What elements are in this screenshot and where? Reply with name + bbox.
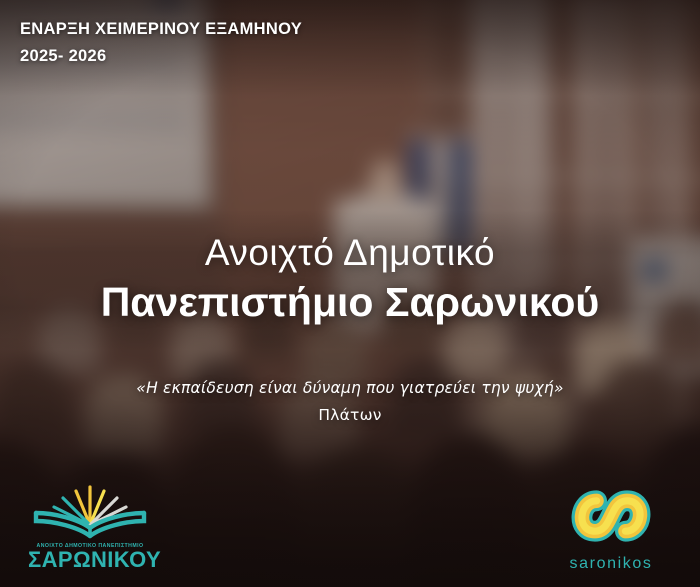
title-line-1: Ανοιχτό Δημοτικό [0, 232, 700, 275]
quote-block: «Η εκπαίδευση είναι δύναμη που γιατρεύει… [0, 379, 700, 424]
saronikos-infinity-s-icon [563, 481, 659, 551]
header-line-1: ΕΝΑΡΞΗ ΧΕΙΜΕΡΙΝΟΥ ΕΞΑΜΗΝΟΥ [20, 16, 302, 43]
poster-content: ΕΝΑΡΞΗ ΧΕΙΜΕΡΙΝΟΥ ΕΞΑΜΗΝΟΥ 2025- 2026 Αν… [0, 0, 700, 587]
event-header: ΕΝΑΡΞΗ ΧΕΙΜΕΡΙΝΟΥ ΕΞΑΜΗΝΟΥ 2025- 2026 [20, 16, 302, 70]
title-line-2: Πανεπιστήμιο Σαρωνικού [0, 277, 700, 328]
header-line-2: 2025- 2026 [20, 43, 302, 70]
quote-author: Πλάτων [0, 406, 700, 424]
quote-text: «Η εκπαίδευση είναι δύναμη που γιατρεύει… [0, 379, 700, 397]
university-logo-name: ΣΑΡΩΝΙΚΟΥ [28, 548, 152, 571]
open-book-with-rays-icon [28, 483, 152, 541]
poster-root: ΕΝΑΡΞΗ ΧΕΙΜΕΡΙΝΟΥ ΕΞΑΜΗΝΟΥ 2025- 2026 Αν… [0, 0, 700, 587]
saronikos-logo-name: saronikos [546, 555, 676, 573]
page-title: Ανοιχτό Δημοτικό Πανεπιστήμιο Σαρωνικού [0, 232, 700, 328]
saronikos-logo: saronikos [546, 481, 676, 573]
university-logo: ΑΝΟΙΧΤΟ ΔΗΜΟΤΙΚΟ ΠΑΝΕΠΙΣΤΗΜΙΟ ΣΑΡΩΝΙΚΟΥ [28, 483, 152, 571]
